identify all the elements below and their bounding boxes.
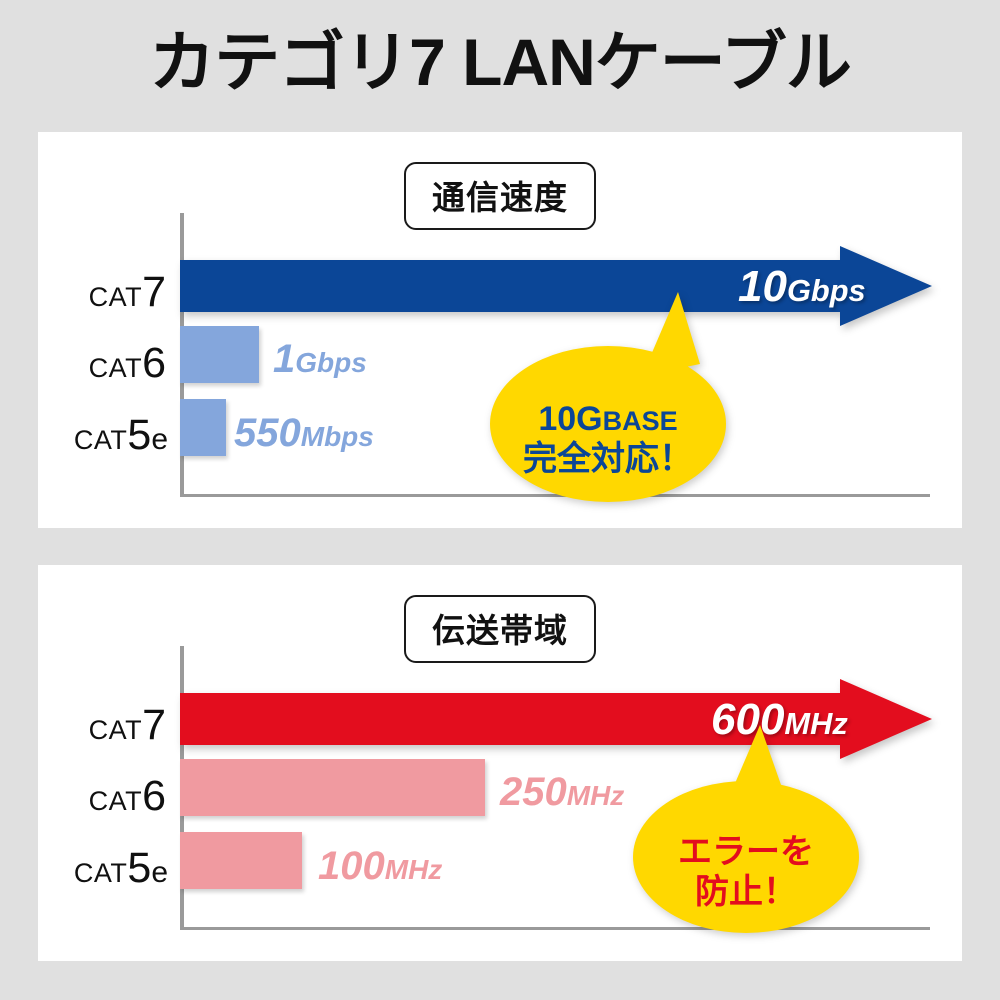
speed-value-cat7: 10Gbps — [738, 265, 866, 309]
bandwidth-value-cat6: 250MHz — [500, 772, 624, 812]
bandwidth-callout-line2: 防止！ — [628, 873, 864, 911]
page-title: カテゴリ7 LANケーブル — [0, 26, 1000, 99]
bandwidth-value-cat5e: 100MHz — [318, 846, 442, 886]
cat-word: CAT — [89, 715, 143, 745]
speed-chart-header: 通信速度 — [404, 162, 596, 230]
cat-word: CAT — [89, 353, 143, 383]
bandwidth-chart-panel: 伝送帯域 CAT7 CAT6 CAT5e 600MHz 250MHz 100MH… — [38, 565, 962, 961]
cat-number: 7 — [142, 268, 166, 316]
cat-word: CAT — [89, 282, 143, 312]
speed-callout-line1-big: 10G — [538, 400, 602, 438]
cat-suffix: e — [151, 423, 168, 456]
cat-number: 6 — [142, 339, 166, 387]
value-number: 1 — [273, 337, 295, 381]
value-unit: MHz — [385, 854, 443, 885]
speed-bar-cat6 — [180, 326, 259, 383]
bandwidth-category-label-cat6: CAT6 — [46, 772, 166, 821]
bandwidth-bar-cat6 — [180, 759, 485, 816]
cat-suffix: e — [151, 856, 168, 889]
speed-bar-cat5e — [180, 399, 226, 456]
value-number: 100 — [318, 844, 385, 888]
speed-callout-line2: 完全対応！ — [490, 440, 726, 478]
bandwidth-bar-cat5e — [180, 832, 302, 889]
cat-word: CAT — [74, 858, 128, 888]
speed-value-cat6: 1Gbps — [273, 339, 367, 379]
value-number: 250 — [500, 770, 567, 814]
value-unit: MHz — [567, 780, 625, 811]
speed-category-label-cat6: CAT6 — [46, 339, 166, 388]
speed-callout-bubble: 10GBASE 完全対応！ — [490, 292, 726, 502]
value-unit: Gbps — [295, 347, 367, 378]
bandwidth-chart-header: 伝送帯域 — [404, 595, 596, 663]
cat-number: 6 — [142, 772, 166, 820]
cat-number: 7 — [142, 701, 166, 749]
value-unit: Mbps — [301, 421, 374, 452]
speed-value-cat5e: 550Mbps — [234, 413, 374, 453]
speed-callout-line1-small: BASE — [603, 406, 678, 436]
cat-word: CAT — [74, 425, 128, 455]
value-number: 550 — [234, 411, 301, 455]
value-number: 10 — [738, 262, 787, 311]
value-unit: Gbps — [787, 273, 866, 308]
cat-word: CAT — [89, 786, 143, 816]
speed-callout-line1: 10GBASE — [490, 400, 726, 438]
speed-chart-panel: 通信速度 CAT7 CAT6 CAT5e 10Gbps 1Gbps 550Mbp… — [38, 132, 962, 528]
cat-number: 5 — [127, 411, 151, 459]
speed-category-label-cat5e: CAT5e — [38, 411, 168, 460]
speed-category-label-cat7: CAT7 — [46, 268, 166, 317]
bandwidth-callout-line1: エラーを — [628, 833, 864, 871]
bandwidth-category-label-cat5e: CAT5e — [38, 844, 168, 893]
bandwidth-category-label-cat7: CAT7 — [46, 701, 166, 750]
cat-number: 5 — [127, 844, 151, 892]
bandwidth-callout-bubble: エラーを 防止！ — [628, 725, 864, 935]
